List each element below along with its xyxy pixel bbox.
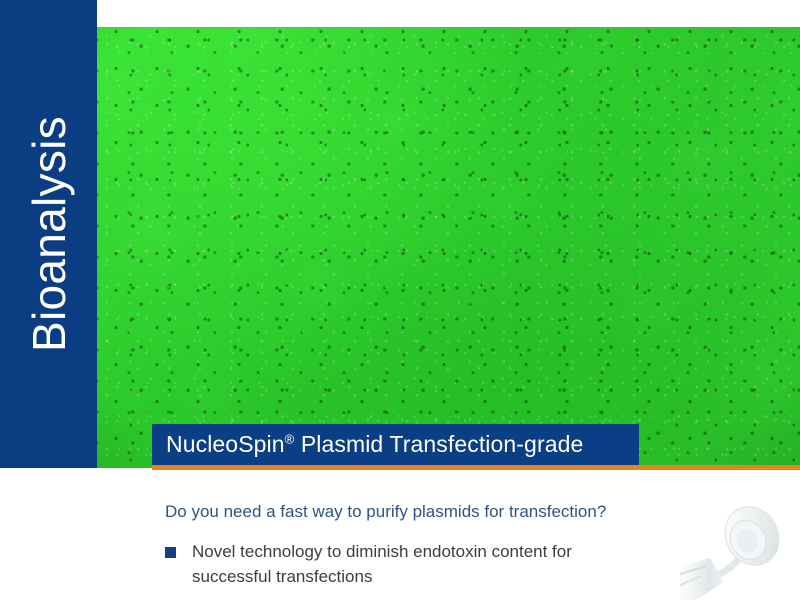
bullet-text: Novel technology to diminish endotoxin c… (192, 540, 622, 589)
product-title-suffix: Plasmid Transfection-grade (294, 431, 583, 457)
product-title-banner: NucleoSpin® Plasmid Transfection-grade (152, 424, 639, 465)
product-title: NucleoSpin® Plasmid Transfection-grade (152, 431, 583, 458)
product-name: NucleoSpin (166, 431, 285, 457)
brand-sidebar: Bioanalysis (0, 0, 97, 468)
registered-trademark-icon: ® (285, 431, 295, 446)
brand-sidebar-label-wrapper: Bioanalysis (0, 0, 97, 468)
list-item: Novel technology to diminish endotoxin c… (165, 540, 665, 589)
square-bullet-icon (165, 547, 176, 558)
microcentrifuge-tube-icon (680, 480, 800, 600)
lead-question: Do you need a fast way to purify plasmid… (165, 502, 606, 522)
fluorescence-microscopy-image (97, 27, 800, 468)
bullet-list: Novel technology to diminish endotoxin c… (165, 540, 665, 589)
orange-accent-rule (152, 465, 800, 470)
microscopy-vignette-layer (97, 27, 800, 468)
brand-sidebar-label: Bioanalysis (26, 116, 72, 352)
